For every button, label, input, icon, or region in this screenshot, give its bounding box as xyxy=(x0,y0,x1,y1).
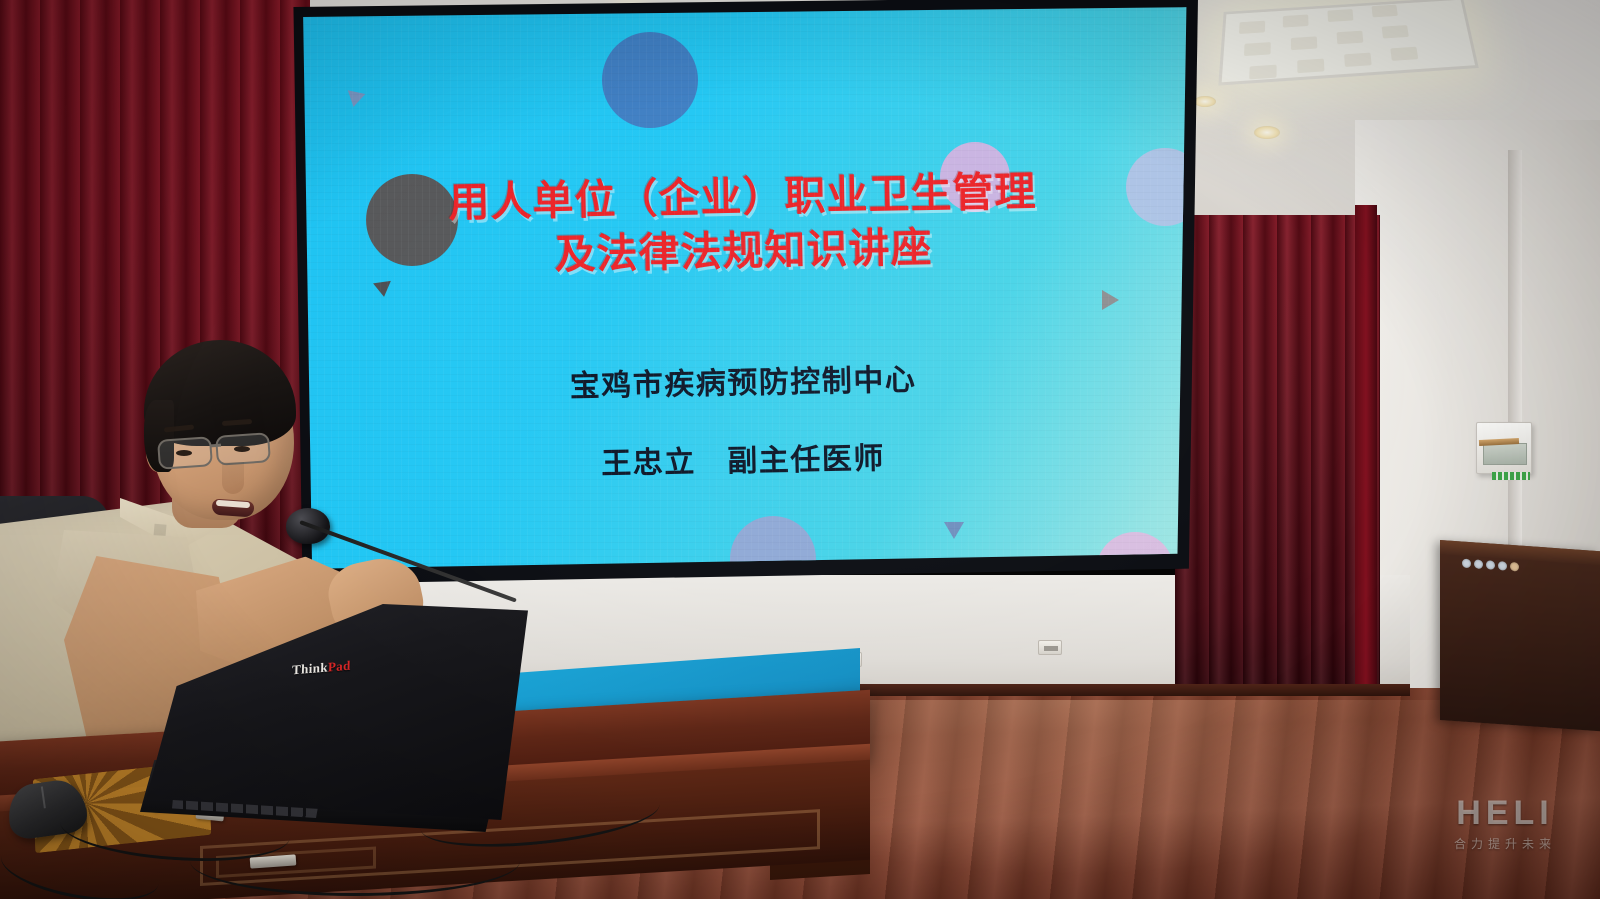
photo-scene: 用人单位（企业）职业卫生管理 及法律法规知识讲座 宝鸡市疾病预防控制中心 王忠立… xyxy=(0,0,1600,899)
mouse-button-split xyxy=(41,786,46,808)
slide-subtitle-speaker: 王忠立 副主任医师 xyxy=(296,427,1190,488)
triangle-gray-right-icon xyxy=(1102,290,1119,310)
curtain-right xyxy=(1175,215,1380,720)
podium-button-4[interactable] xyxy=(1498,561,1507,571)
podium-button-2[interactable] xyxy=(1474,559,1483,569)
electrical-panel-box[interactable] xyxy=(1476,422,1532,474)
downlight-mid3 xyxy=(1194,96,1216,107)
panel-window xyxy=(1483,443,1527,465)
panel-breakers xyxy=(1492,472,1530,480)
circle-blue-top-icon xyxy=(602,32,698,128)
thinkpad-logo-prefix: Think xyxy=(292,659,328,677)
podium-button-1[interactable] xyxy=(1462,558,1471,568)
slide-title: 用人单位（企业）职业卫生管理 及法律法规知识讲座 xyxy=(296,161,1190,286)
downlight-left xyxy=(1254,126,1280,139)
triangle-blue-low-icon xyxy=(944,522,964,539)
podium-button-3[interactable] xyxy=(1486,560,1495,570)
thinkpad-logo-suffix: Pad xyxy=(328,658,351,675)
podium-control-buttons[interactable] xyxy=(1462,558,1528,573)
slide-subtitle-organization: 宝鸡市疾病预防控制中心 xyxy=(296,349,1190,410)
nose xyxy=(222,462,244,494)
projection-screen[interactable]: 用人单位（企业）职业卫生管理 及法律法规知识讲座 宝鸡市疾病预防控制中心 王忠立… xyxy=(296,2,1190,578)
floor-reflection xyxy=(840,700,1600,899)
curtain-far-right xyxy=(1355,205,1377,725)
podium-button-5[interactable] xyxy=(1510,561,1519,571)
podium-cabinet[interactable] xyxy=(1440,540,1600,731)
triangle-blue-small-icon xyxy=(345,90,366,108)
eye-left xyxy=(176,450,192,456)
wall-outlet-right[interactable] xyxy=(1038,640,1062,655)
eye-right xyxy=(234,446,250,452)
